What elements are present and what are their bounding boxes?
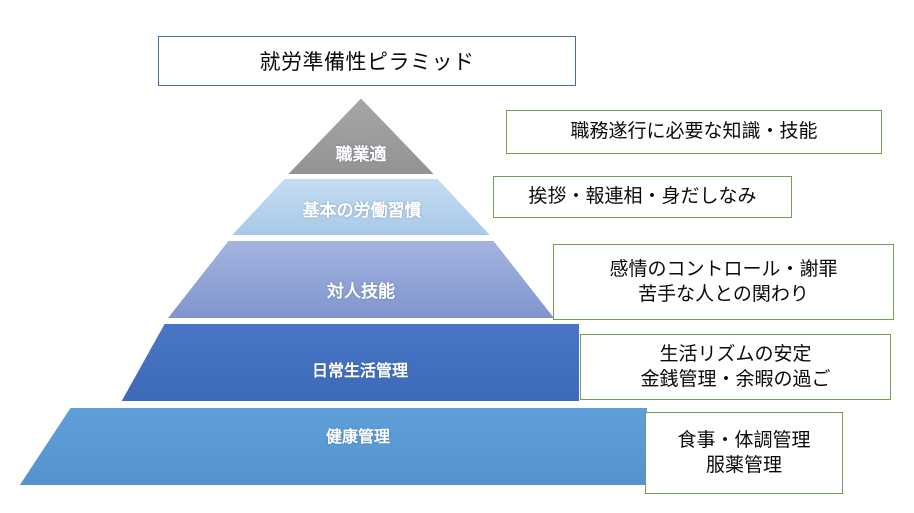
pyramid-tier-4-label: 日常生活管理 bbox=[130, 357, 590, 381]
pyramid-tier-2-label: 基本の労働習慣 bbox=[228, 196, 496, 221]
callout-line: 生活リズムの安定 bbox=[659, 342, 811, 367]
callout-line: 食事・体調管理 bbox=[677, 428, 810, 453]
callout-box-tier-2: 挨拶・報連相・身だしなみ bbox=[493, 176, 792, 218]
pyramid-tier-1-label: 職業適 bbox=[268, 140, 454, 165]
pyramid-tier-5-label: 健康管理 bbox=[70, 423, 646, 447]
callout-box-tier-4: 生活リズムの安定 金銭管理・余暇の過ご bbox=[580, 334, 891, 400]
callout-line: 服薬管理 bbox=[706, 453, 782, 478]
callout-line: 感情のコントロール・謝罪 bbox=[609, 257, 837, 282]
callout-line: 職務遂行に必要な知識・技能 bbox=[570, 119, 817, 144]
callout-box-tier-5: 食事・体調管理 服薬管理 bbox=[645, 412, 843, 494]
callout-line: 挨拶・報連相・身だしなみ bbox=[528, 184, 756, 209]
slide-canvas: 就労準備性ピラミッド bbox=[0, 0, 914, 513]
callout-line: 苦手な人との関わり bbox=[638, 282, 809, 307]
callout-line: 金銭管理・余暇の過ご bbox=[640, 367, 830, 392]
pyramid-tier-3-label: 対人技能 bbox=[185, 277, 537, 302]
callout-box-tier-1: 職務遂行に必要な知識・技能 bbox=[506, 110, 882, 154]
callout-box-tier-3: 感情のコントロール・謝罪 苦手な人との関わり bbox=[553, 244, 894, 320]
